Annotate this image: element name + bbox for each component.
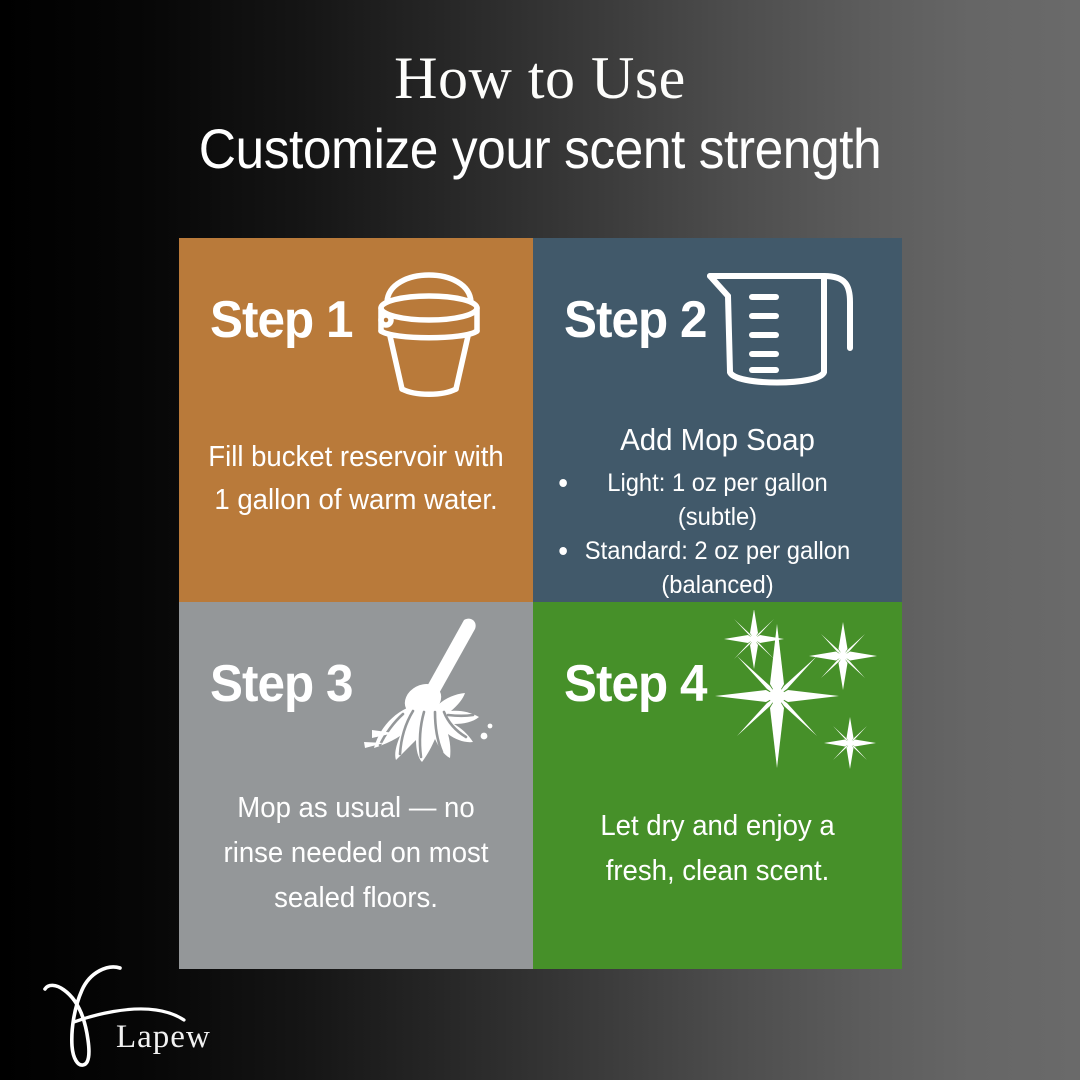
step-3-body: Mop as usual — no rinse needed on most s… [188,786,524,921]
page-title: How to Use [0,46,1080,110]
list-item: Light: 1 oz per gallon (subtle) [542,466,893,534]
bullet-dot-icon [559,547,567,555]
step-card-4: Step 4 [533,602,902,969]
measuring-cup-icon [700,260,875,400]
step-1-label: Step 1 [210,294,353,346]
mop-icon [338,612,513,772]
bucket-icon [349,252,509,402]
step-2-heading: Add Mop Soap [542,420,893,460]
step-2-label: Step 2 [564,294,707,346]
step-card-1: Step 1 [179,238,533,602]
step-2-bullet-1: Light: 1 oz per gallon (subtle) [607,469,828,531]
sparkles-icon [711,610,896,775]
step-3-label: Step 3 [210,658,353,710]
page-subtitle: Customize your scent strength [43,118,1037,180]
list-item: Standard: 2 oz per gallon (balanced) [542,534,893,602]
step-4-body: Let dry and enjoy a fresh, clean scent. [542,804,893,894]
step-4-label: Step 4 [564,658,707,710]
step-2-content: Add Mop Soap Light: 1 oz per gallon (sub… [533,420,902,602]
header: How to Use Customize your scent strength [0,46,1080,180]
step-2-bullet-2: Standard: 2 oz per gallon (balanced) [585,537,850,599]
step-card-3: Step 3 [179,602,533,969]
bullet-dot-icon [559,479,567,487]
step-1-body: Fill bucket reservoir with 1 gallon of w… [188,436,524,522]
steps-grid: Step 1 [179,238,902,969]
brand-logo: Lapew [38,960,268,1070]
poster-canvas: How to Use Customize your scent strength… [0,0,1080,1080]
step-card-2: Step 2 [533,238,902,602]
brand-name: Lapew [116,1019,211,1056]
